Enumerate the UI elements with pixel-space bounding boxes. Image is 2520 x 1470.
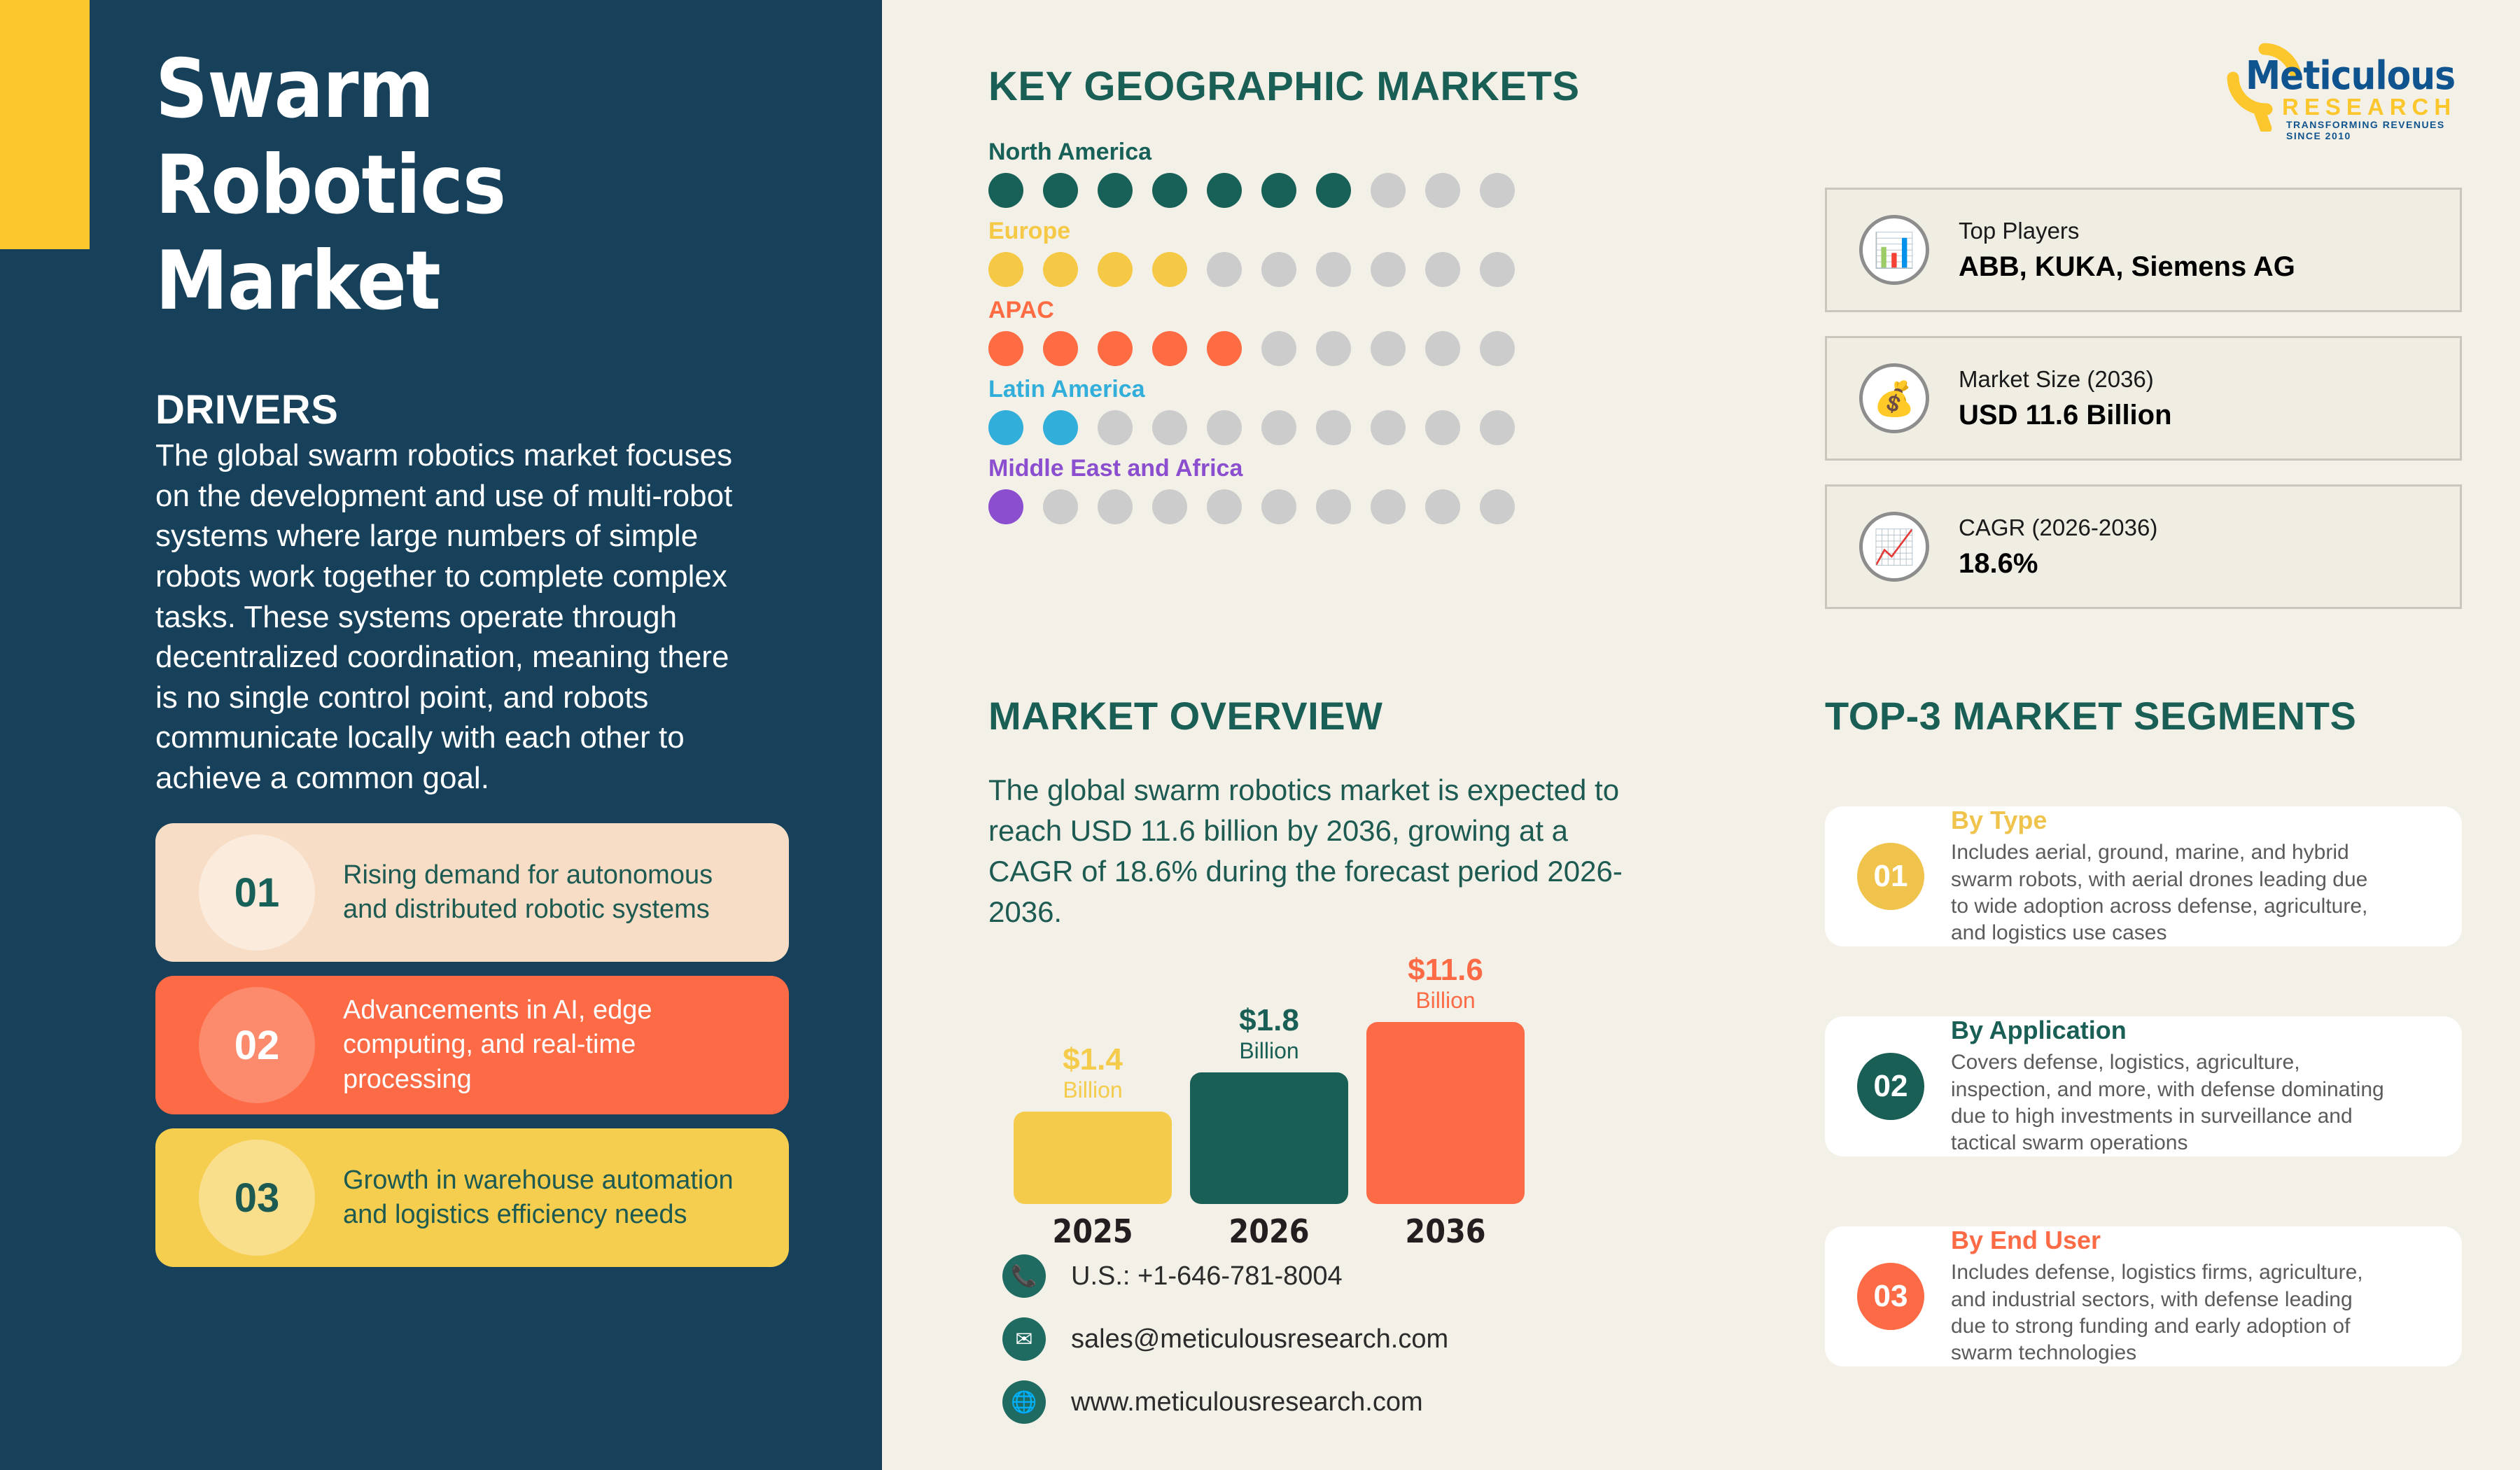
geo-dot-empty (1480, 173, 1515, 208)
geo-dot-filled (1098, 331, 1133, 366)
bar-value-label: $1.8 (1239, 1004, 1299, 1037)
geo-dot-empty (1316, 410, 1351, 445)
driver-card[interactable]: 03 Growth in warehouse automation and lo… (155, 1128, 789, 1267)
left-panel: Swarm Robotics Market DRIVERS The global… (0, 0, 882, 1470)
geo-dot-filled (988, 410, 1023, 445)
geo-dot-group (988, 489, 1515, 524)
logo-brand-text: Meticulous (2246, 53, 2455, 99)
geo-dot-group (988, 173, 1515, 208)
geo-dot-empty (1371, 173, 1406, 208)
driver-card[interactable]: 02 Advancements in AI, edge computing, a… (155, 976, 789, 1114)
driver-text: Growth in warehouse automation and logis… (343, 1128, 763, 1267)
geo-region-label: Europe (988, 218, 1515, 245)
segment-title: By End User (1951, 1226, 2385, 1255)
driver-number: 01 (199, 834, 315, 951)
geo-dot-empty (1480, 252, 1515, 287)
geo-dot-group (988, 252, 1515, 287)
geo-region-row: Europe (988, 218, 1515, 287)
segment-number: 01 (1857, 843, 1924, 910)
segment-title: By Type (1951, 806, 2385, 835)
geo-dot-empty (1316, 252, 1351, 287)
contact-list: 📞 U.S.: +1-646-781-8004 ✉ sales@meticulo… (1002, 1254, 1448, 1443)
geo-dot-empty (1371, 489, 1406, 524)
stat-card[interactable]: 💰 Market Size (2036) USD 11.6 Billion (1825, 336, 2462, 461)
geo-region-row: North America (988, 139, 1515, 208)
geo-dot-empty (1425, 252, 1460, 287)
segments-heading: TOP-3 MARKET SEGMENTS (1825, 693, 2356, 738)
logo-tagline: TRANSFORMING REVENUES SINCE 2010 (2286, 119, 2478, 141)
page-title: Swarm Robotics Market (155, 42, 785, 330)
geo-dot-empty (1316, 331, 1351, 366)
contact-row-email[interactable]: ✉ sales@meticulousresearch.com (1002, 1317, 1448, 1361)
geo-dot-group (988, 410, 1515, 445)
stat-value: 18.6% (1959, 545, 2157, 582)
chart-increasing-icon: 📈 (1859, 512, 1929, 582)
money-bag-icon: 💰 (1859, 363, 1929, 433)
market-size-bar-chart: $1.4Billion2025$1.8Billion2026$11.6Billi… (988, 952, 1583, 1260)
globe-icon: 🌐 (1002, 1380, 1046, 1424)
phone-icon: 📞 (1002, 1254, 1046, 1298)
geo-dot-empty (1261, 489, 1296, 524)
market-overview-body: The global swarm robotics market is expe… (988, 770, 1632, 932)
stat-label: CAGR (2026-2036) (1959, 511, 2157, 545)
geo-dot-empty (1425, 331, 1460, 366)
bar-value-label: $11.6 (1408, 954, 1483, 986)
email-icon: ✉ (1002, 1317, 1046, 1361)
geo-dot-empty (1152, 410, 1187, 445)
driver-card[interactable]: 01 Rising demand for autonomous and dist… (155, 823, 789, 962)
geo-dot-filled (1316, 173, 1351, 208)
geo-dot-empty (1480, 410, 1515, 445)
bar-unit-label: Billion (1239, 1037, 1298, 1064)
driver-text: Advancements in AI, edge computing, and … (343, 976, 763, 1114)
driver-text: Rising demand for autonomous and distrib… (343, 823, 763, 962)
geo-dot-group (988, 331, 1515, 366)
bar-column: $11.6Billion (1366, 954, 1525, 1204)
stat-value: ABB, KUKA, Siemens AG (1959, 248, 2295, 286)
geo-region-row: APAC (988, 297, 1515, 366)
segment-description: Covers defense, logistics, agriculture, … (1951, 1049, 2385, 1157)
contact-phone: U.S.: +1-646-781-8004 (1071, 1261, 1343, 1291)
bar-column: $1.8Billion (1190, 1004, 1348, 1204)
logo-sub-text: RESEARCH (2282, 94, 2456, 120)
bar-rect (1190, 1072, 1348, 1204)
bar-unit-label: Billion (1063, 1077, 1122, 1103)
geo-dot-empty (1261, 410, 1296, 445)
geo-dot-empty (1098, 489, 1133, 524)
stat-value: USD 11.6 Billion (1959, 396, 2172, 434)
bar-chart-icon: 📊 (1859, 215, 1929, 285)
geo-dot-empty (1425, 489, 1460, 524)
segment-description: Includes aerial, ground, marine, and hyb… (1951, 839, 2385, 947)
geo-dot-filled (1043, 410, 1078, 445)
brand-logo[interactable]: Meticulous RESEARCH TRANSFORMING REVENUE… (2212, 34, 2478, 132)
geo-dot-filled (1152, 173, 1187, 208)
segment-card[interactable]: 03 By End User Includes defense, logisti… (1825, 1226, 2462, 1366)
geo-dot-empty (1152, 489, 1187, 524)
bar-unit-label: Billion (1415, 987, 1475, 1014)
geo-dot-filled (1043, 331, 1078, 366)
driver-number: 03 (199, 1140, 315, 1256)
segment-number: 02 (1857, 1053, 1924, 1120)
geo-dot-filled (1043, 173, 1078, 208)
geo-dot-filled (1261, 173, 1296, 208)
market-overview-heading: MARKET OVERVIEW (988, 693, 1382, 738)
geo-dot-empty (1207, 489, 1242, 524)
bar-category-label: 2036 (1366, 1212, 1525, 1250)
geo-dot-filled (988, 489, 1023, 524)
segment-description: Includes defense, logistics firms, agric… (1951, 1259, 2385, 1367)
geo-dot-filled (1207, 173, 1242, 208)
bar-column: $1.4Billion (1014, 1044, 1172, 1204)
bar-rect (1366, 1022, 1525, 1204)
geo-dot-filled (1043, 252, 1078, 287)
geo-region-label: North America (988, 139, 1515, 166)
geo-dot-filled (988, 331, 1023, 366)
contact-website: www.meticulousresearch.com (1071, 1387, 1423, 1417)
geo-region-row: Latin America (988, 376, 1515, 445)
geo-dot-empty (1261, 331, 1296, 366)
drivers-body: The global swarm robotics market focuses… (155, 435, 743, 799)
geo-dot-empty (1207, 252, 1242, 287)
geo-dot-filled (1152, 331, 1187, 366)
stat-label: Top Players (1959, 214, 2295, 248)
geo-dot-filled (1098, 173, 1133, 208)
geo-dot-empty (1098, 410, 1133, 445)
geo-region-row: Middle East and Africa (988, 455, 1515, 524)
segment-card[interactable]: 02 By Application Covers defense, logist… (1825, 1016, 2462, 1156)
geo-dot-empty (1425, 410, 1460, 445)
geo-dot-empty (1261, 252, 1296, 287)
geo-dot-empty (1207, 410, 1242, 445)
bar-category-label: 2025 (1014, 1212, 1172, 1250)
segment-title: By Application (1951, 1016, 2385, 1045)
geo-dot-empty (1043, 489, 1078, 524)
bar-rect (1014, 1112, 1172, 1204)
stat-card[interactable]: 📈 CAGR (2026-2036) 18.6% (1825, 484, 2462, 609)
contact-email: sales@meticulousresearch.com (1071, 1324, 1448, 1354)
geo-region-label: APAC (988, 297, 1515, 324)
geo-dot-empty (1371, 252, 1406, 287)
geo-dot-filled (1098, 252, 1133, 287)
stat-label: Market Size (2036) (1959, 363, 2172, 396)
geo-dot-empty (1480, 489, 1515, 524)
geo-section-heading: KEY GEOGRAPHIC MARKETS (988, 63, 1580, 110)
geo-dot-empty (1371, 331, 1406, 366)
geo-dot-filled (1207, 331, 1242, 366)
geo-dot-empty (1425, 173, 1460, 208)
geo-region-label: Middle East and Africa (988, 455, 1515, 482)
geo-dot-empty (1480, 331, 1515, 366)
bar-value-label: $1.4 (1063, 1044, 1123, 1076)
geo-dot-empty (1371, 410, 1406, 445)
geo-dot-filled (988, 173, 1023, 208)
geo-dot-empty (1316, 489, 1351, 524)
segment-number: 03 (1857, 1263, 1924, 1330)
geo-region-list: North AmericaEuropeAPACLatin AmericaMidd… (988, 139, 1515, 534)
geo-region-label: Latin America (988, 376, 1515, 403)
bar-category-label: 2026 (1190, 1212, 1348, 1250)
drivers-heading: DRIVERS (155, 386, 338, 433)
accent-bar (0, 0, 90, 249)
geo-dot-filled (1152, 252, 1187, 287)
driver-number: 02 (199, 987, 315, 1103)
stat-card[interactable]: 📊 Top Players ABB, KUKA, Siemens AG (1825, 188, 2462, 312)
contact-row-phone[interactable]: 📞 U.S.: +1-646-781-8004 (1002, 1254, 1448, 1298)
contact-row-website[interactable]: 🌐 www.meticulousresearch.com (1002, 1380, 1448, 1424)
geo-dot-filled (988, 252, 1023, 287)
segment-card[interactable]: 01 By Type Includes aerial, ground, mari… (1825, 806, 2462, 946)
